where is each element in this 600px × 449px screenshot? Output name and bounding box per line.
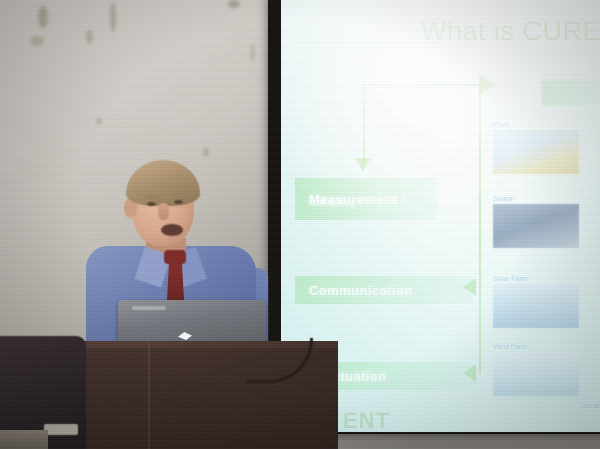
wall-stain: [203, 148, 209, 156]
flow-box-communication-label: Communication: [309, 283, 412, 298]
thumbnail-wind-farm-label: Wind Farm: [493, 344, 579, 351]
presenter-nose: [158, 203, 169, 220]
thumbnail-wind-farm-image: [493, 352, 579, 396]
slide-title: What is CURE: [421, 16, 600, 47]
flow-connector-left: [363, 84, 365, 164]
thumbnail-solar-farm: Solar Farm: [493, 276, 579, 328]
wall-stain: [96, 118, 102, 125]
chair-base: [44, 424, 78, 435]
wall-stain: [30, 36, 44, 46]
thumbnail-station-image: [493, 204, 579, 248]
flow-connector-right-lower: [479, 284, 481, 374]
presenter-mouth: [161, 224, 183, 236]
presenter-brow-left: [145, 195, 158, 198]
generation-label: Generation: [581, 401, 600, 410]
thumbnail-solar-farm-label: Solar Farm: [493, 276, 579, 283]
thumbnail-solar-farm-image: [493, 284, 579, 328]
arrow-down-left-icon: [355, 158, 371, 171]
wall-stain: [38, 6, 48, 28]
thumbnail-station-label: Station: [493, 196, 579, 203]
thumbnail-plant-label: Plant: [493, 122, 579, 129]
wall-stain: [86, 30, 93, 44]
flow-box-communication: Communication: [295, 276, 473, 304]
wall-stain: [228, 0, 240, 8]
flow-box-measurement: Measurement / Monitoring: [295, 178, 437, 220]
flow-box-measurement-sub: Monitoring: [309, 198, 355, 208]
thumbnail-plant: Plant: [493, 122, 579, 174]
wall-stain: [110, 2, 116, 32]
wall-stain: [250, 44, 255, 62]
podium-edge: [148, 341, 150, 449]
thumbnail-wind-farm: Wind Farm: [493, 344, 579, 396]
laptop-hinge: [132, 306, 166, 310]
slide-corner-box: [542, 80, 600, 106]
presenter-eye-left: [147, 202, 156, 206]
presenter-brow-right: [172, 193, 185, 196]
thumbnail-plant-image: [493, 130, 579, 174]
slide-bottom-word: ENT: [343, 408, 390, 432]
presentation-photo: What is CURE Measurement / Monitoring Co…: [0, 0, 600, 449]
arrow-right-top-icon: [479, 74, 495, 96]
presenter-tie-knot: [164, 250, 186, 264]
floor: [0, 430, 48, 449]
presenter-eye-right: [174, 200, 183, 204]
flow-connector-top: [363, 84, 481, 86]
flow-connector-right: [479, 84, 481, 284]
thumbnail-station: Station: [493, 196, 579, 248]
